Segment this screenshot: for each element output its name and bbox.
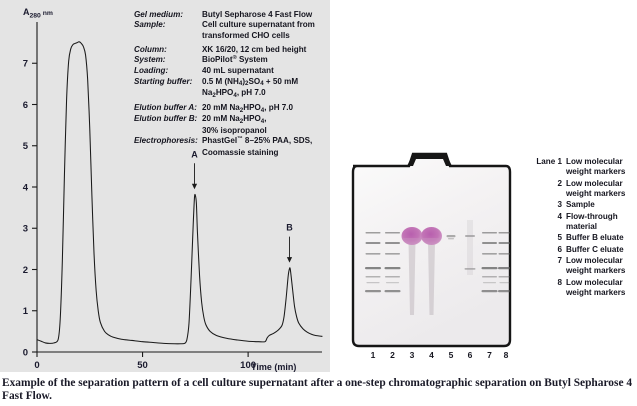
lane-legend-key-2: 2 <box>528 179 566 189</box>
gel-band <box>366 253 381 255</box>
method-value: XK 16/20, 12 cm bed height <box>202 45 326 55</box>
lane-legend-key-5: 5 <box>528 233 566 243</box>
gel-band <box>366 276 381 278</box>
gel-band <box>482 276 497 278</box>
method-value: Na2HPO4, pH 7.0 <box>202 88 326 99</box>
method-row: Starting buffer:0.5 M (NH4)2SO4 + 50 mM <box>134 77 326 88</box>
gel-band <box>482 242 497 244</box>
y-axis-tick-labels: 01234567 <box>23 59 29 359</box>
gel-lane-number-2: 2 <box>388 350 398 360</box>
method-key: System: <box>134 55 202 65</box>
lane-legend-row: 2Low molecularweight markers <box>528 179 634 199</box>
method-row: Na2HPO4, pH 7.0 <box>134 88 326 99</box>
method-value: Cell culture supernatant from <box>202 20 326 30</box>
y-tick-label-5: 5 <box>23 141 29 152</box>
y-tick-label-4: 4 <box>23 182 29 193</box>
lane-legend-key-8: 8 <box>528 278 566 288</box>
lane-legend-desc-5: Buffer B eluate <box>566 233 634 243</box>
gel-lane-numbers: 12345678 <box>347 350 512 364</box>
lane-legend-desc-8: Low molecularweight markers <box>566 278 634 298</box>
gel-band <box>366 242 381 244</box>
method-value: Butyl Sepharose 4 Fast Flow <box>202 10 326 20</box>
method-key: Sample: <box>134 20 202 30</box>
method-row: Electrophoresis:PhastGel™ 8–25% PAA, SDS… <box>134 136 326 147</box>
method-value: 20 mM Na2HPO4, pH 7.0 <box>202 103 326 114</box>
method-row: Coomassie staining <box>134 148 326 158</box>
y-tick-label-0: 0 <box>23 347 28 358</box>
method-row: 30% isopropanol <box>134 126 326 136</box>
gel-band <box>385 242 400 244</box>
lane-legend-row: 7Low molecularweight markers <box>528 256 634 276</box>
peak-annotations: AB <box>191 149 293 262</box>
method-value: 0.5 M (NH4)2SO4 + 50 mM <box>202 77 326 88</box>
gel-band <box>367 282 380 283</box>
lane-legend: Lane 1Low molecularweight markers2Low mo… <box>528 157 634 299</box>
method-value: 40 mL supernatant <box>202 66 326 76</box>
method-row: Sample:Cell culture supernatant from <box>134 20 326 30</box>
method-row: Loading:40 mL supernatant <box>134 66 326 76</box>
gel-band <box>386 282 399 283</box>
lane-legend-desc-4: Flow-throughmaterial <box>566 212 634 232</box>
lane-legend-desc-6: Buffer C eluate <box>566 245 634 255</box>
method-key: Electrophoresis: <box>134 136 202 146</box>
x-axis-ticks <box>37 352 248 357</box>
x-axis-tick-labels: 050100 <box>34 360 256 371</box>
method-value: BioPilot® System <box>202 55 326 66</box>
gel-band <box>498 267 512 269</box>
gel-lane-number-6: 6 <box>465 350 475 360</box>
peak-label-B: B <box>286 223 293 233</box>
lane-legend-key-6: 6 <box>528 245 566 255</box>
peak-arrow-head-A <box>192 184 197 190</box>
lane-legend-row: 4Flow-throughmaterial <box>528 212 634 232</box>
gel-band <box>385 290 401 292</box>
method-key: Elution buffer B: <box>134 114 202 124</box>
method-conditions-block: Gel medium:Butyl Sepharose 4 Fast FlowSa… <box>134 10 326 158</box>
y-axis-title-unit: nm <box>41 10 53 17</box>
gel-band <box>482 232 497 234</box>
y-tick-label-2: 2 <box>23 265 28 276</box>
x-axis-title: Time (min) <box>251 362 296 372</box>
gel-lane-number-8: 8 <box>501 350 511 360</box>
method-value: Coomassie staining <box>202 148 326 158</box>
lane-legend-desc-3: Sample <box>566 200 634 210</box>
gel-band <box>365 267 381 269</box>
gel-band <box>447 235 456 237</box>
gel-band <box>366 232 381 234</box>
method-row: Elution buffer B:20 mM Na2HPO4, <box>134 114 326 125</box>
method-row: System:BioPilot® System <box>134 55 326 66</box>
method-value: 30% isopropanol <box>202 126 326 136</box>
gel-band <box>385 276 400 278</box>
y-tick-label-7: 7 <box>23 59 28 70</box>
method-row: Gel medium:Butyl Sepharose 4 Fast Flow <box>134 10 326 20</box>
gel-band <box>385 253 400 255</box>
gel-band <box>498 290 512 292</box>
gel-band <box>499 276 513 278</box>
lane-legend-row: 6Buffer C eluate <box>528 245 634 255</box>
gel-svg <box>347 150 512 350</box>
y-axis-title-sub: 280 <box>30 13 42 20</box>
gel-band <box>499 232 513 234</box>
gel-lane-number-1: 1 <box>368 350 378 360</box>
lane-legend-key-7: 7 <box>528 256 566 266</box>
y-tick-label-6: 6 <box>23 100 28 111</box>
method-value: 20 mM Na2HPO4, <box>202 114 326 125</box>
y-tick-label-3: 3 <box>23 224 28 235</box>
lane-legend-row: 5Buffer B eluate <box>528 233 634 243</box>
gel-band <box>499 242 513 244</box>
gel-band <box>385 232 400 234</box>
gel-band <box>482 253 497 255</box>
lane-legend-key-3: 3 <box>528 200 566 210</box>
gel-streak <box>467 220 473 275</box>
electrophoresis-gel-image <box>347 150 512 350</box>
y-axis-title: A280 nm <box>23 7 53 20</box>
gel-lane-number-3: 3 <box>407 350 417 360</box>
method-key: Elution buffer A: <box>134 103 202 113</box>
method-value: PhastGel™ 8–25% PAA, SDS, <box>202 136 326 147</box>
gel-lane-number-5: 5 <box>446 350 456 360</box>
gel-band <box>499 253 513 255</box>
lane-legend-key-1: Lane 1 <box>528 157 566 167</box>
gel-band <box>448 238 454 239</box>
gel-band <box>482 290 498 292</box>
method-value: transformed CHO cells <box>202 31 326 41</box>
x-tick-label-0: 0 <box>34 360 39 371</box>
method-row: Column:XK 16/20, 12 cm bed height <box>134 45 326 55</box>
method-key: Loading: <box>134 66 202 76</box>
lane-legend-desc-7: Low molecularweight markers <box>566 256 634 276</box>
gel-band <box>482 267 498 269</box>
lane-legend-row: 8Low molecularweight markers <box>528 278 634 298</box>
gel-band <box>365 290 381 292</box>
gel-band <box>483 282 496 283</box>
method-key: Column: <box>134 45 202 55</box>
peak-arrow-head-B <box>287 257 292 263</box>
lane-legend-row: Lane 1Low molecularweight markers <box>528 157 634 177</box>
y-axis-ticks <box>32 63 37 352</box>
figure-caption: Example of the separation pattern of a c… <box>2 377 634 403</box>
method-key: Starting buffer: <box>134 77 202 87</box>
x-tick-label-50: 50 <box>137 360 148 371</box>
method-row: Elution buffer A:20 mM Na2HPO4, pH 7.0 <box>134 103 326 114</box>
method-row: transformed CHO cells <box>134 31 326 41</box>
method-key: Gel medium: <box>134 10 202 20</box>
y-tick-label-1: 1 <box>23 306 29 317</box>
gel-band <box>385 267 401 269</box>
lane-legend-desc-1: Low molecularweight markers <box>566 157 634 177</box>
lane-legend-row: 3Sample <box>528 200 634 210</box>
gel-lane-number-7: 7 <box>485 350 495 360</box>
lane-legend-key-4: 4 <box>528 212 566 222</box>
gel-lane-number-4: 4 <box>427 350 437 360</box>
lane-legend-desc-2: Low molecularweight markers <box>566 179 634 199</box>
